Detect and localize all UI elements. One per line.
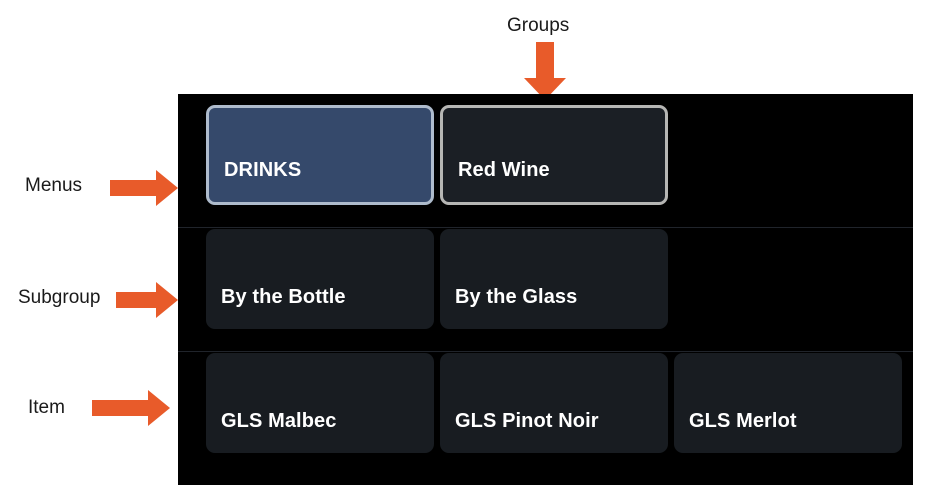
menu-tile-drinks[interactable]: DRINKS [206, 105, 434, 205]
annotation-label-menus: Menus [25, 176, 82, 195]
arrow-head [156, 282, 178, 318]
arrow-right-icon-menus [110, 170, 178, 206]
arrow-head [156, 170, 178, 206]
annotation-label-subgroup: Subgroup [18, 288, 100, 307]
item-row: GLS Malbec GLS Pinot Noir GLS Merlot [178, 353, 913, 466]
annotation-label-item: Item [28, 398, 65, 417]
tile-label: By the Glass [440, 287, 577, 329]
arrow-right-icon-item [92, 390, 170, 426]
arrow-shaft [536, 42, 554, 82]
pos-menu-panel: DRINKS Red Wine By the Bottle By the Gla… [178, 94, 913, 485]
tile-label: GLS Pinot Noir [440, 411, 599, 453]
item-tile-gls-pinot-noir[interactable]: GLS Pinot Noir [440, 353, 668, 453]
tile-label: GLS Malbec [206, 411, 336, 453]
group-tile-red-wine[interactable]: Red Wine [440, 105, 668, 205]
arrow-right-icon-subgroup [116, 282, 178, 318]
tile-label: DRINKS [209, 160, 301, 202]
arrow-head [148, 390, 170, 426]
arrow-shaft [110, 180, 158, 196]
tile-label: By the Bottle [206, 287, 346, 329]
arrow-down-icon-groups [524, 42, 566, 100]
annotation-label-groups: Groups [507, 16, 569, 35]
item-tile-gls-merlot[interactable]: GLS Merlot [674, 353, 902, 453]
arrow-shaft [92, 400, 148, 416]
menus-and-groups-row: DRINKS Red Wine [178, 105, 913, 218]
row-divider [178, 351, 913, 352]
subgroup-tile-by-the-glass[interactable]: By the Glass [440, 229, 668, 329]
subgroup-row: By the Bottle By the Glass [178, 229, 913, 342]
item-tile-gls-malbec[interactable]: GLS Malbec [206, 353, 434, 453]
tile-label: Red Wine [443, 160, 550, 202]
tile-label: GLS Merlot [674, 411, 797, 453]
arrow-shaft [116, 292, 158, 308]
row-divider [178, 227, 913, 228]
subgroup-tile-by-the-bottle[interactable]: By the Bottle [206, 229, 434, 329]
